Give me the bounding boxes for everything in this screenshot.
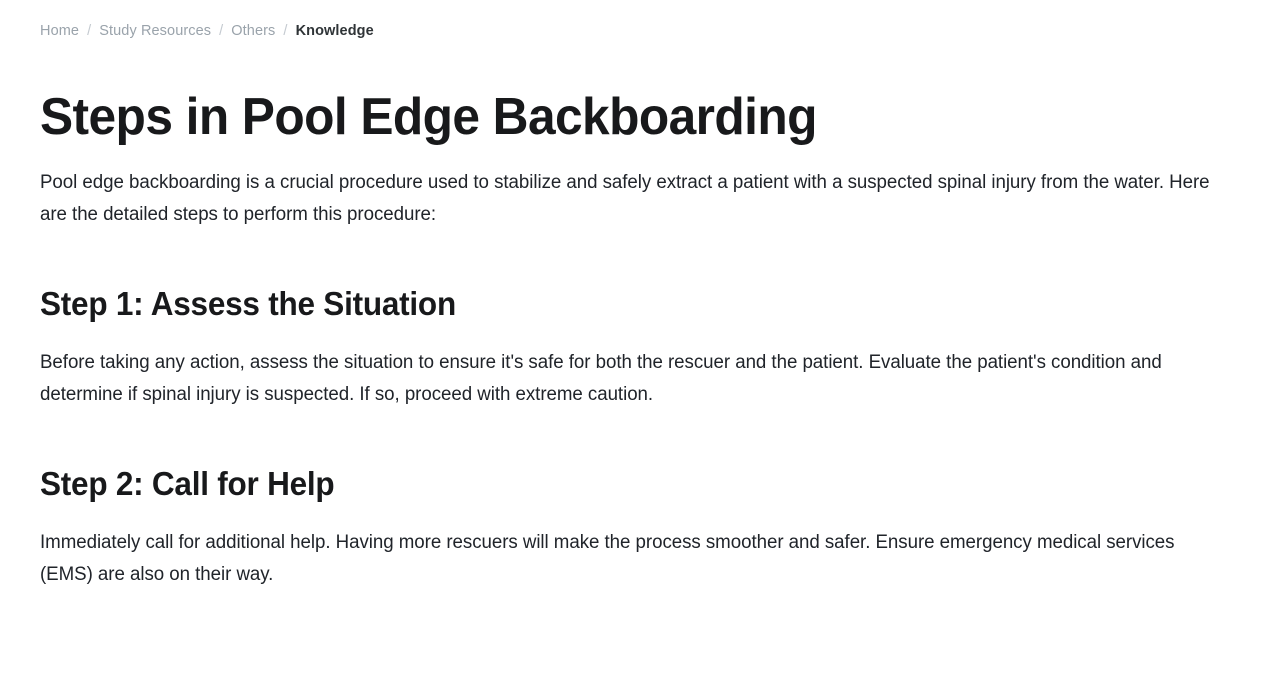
intro-paragraph: Pool edge backboarding is a crucial proc… bbox=[40, 167, 1230, 230]
step-1-heading: Step 1: Assess the Situation bbox=[40, 284, 1194, 324]
step-2-paragraph: Immediately call for additional help. Ha… bbox=[40, 527, 1230, 590]
breadcrumb-separator: / bbox=[283, 24, 287, 39]
page-title: Steps in Pool Edge Backboarding bbox=[40, 86, 1194, 148]
step-section-1: Step 1: Assess the Situation Before taki… bbox=[40, 284, 1248, 410]
breadcrumb-separator: / bbox=[219, 24, 223, 39]
article: Steps in Pool Edge Backboarding Pool edg… bbox=[40, 86, 1248, 590]
breadcrumb-separator: / bbox=[87, 24, 91, 39]
step-section-2: Step 2: Call for Help Immediately call f… bbox=[40, 464, 1248, 590]
breadcrumb-item-others[interactable]: Others bbox=[231, 24, 275, 39]
breadcrumb: Home / Study Resources / Others / Knowle… bbox=[40, 0, 1248, 62]
breadcrumb-item-knowledge: Knowledge bbox=[296, 24, 374, 39]
step-1-paragraph: Before taking any action, assess the sit… bbox=[40, 347, 1230, 410]
intro-section: Steps in Pool Edge Backboarding Pool edg… bbox=[40, 86, 1248, 230]
step-2-heading: Step 2: Call for Help bbox=[40, 464, 1194, 504]
page-container: Home / Study Resources / Others / Knowle… bbox=[0, 0, 1280, 700]
breadcrumb-item-home[interactable]: Home bbox=[40, 24, 79, 39]
breadcrumb-item-study-resources[interactable]: Study Resources bbox=[99, 24, 211, 39]
